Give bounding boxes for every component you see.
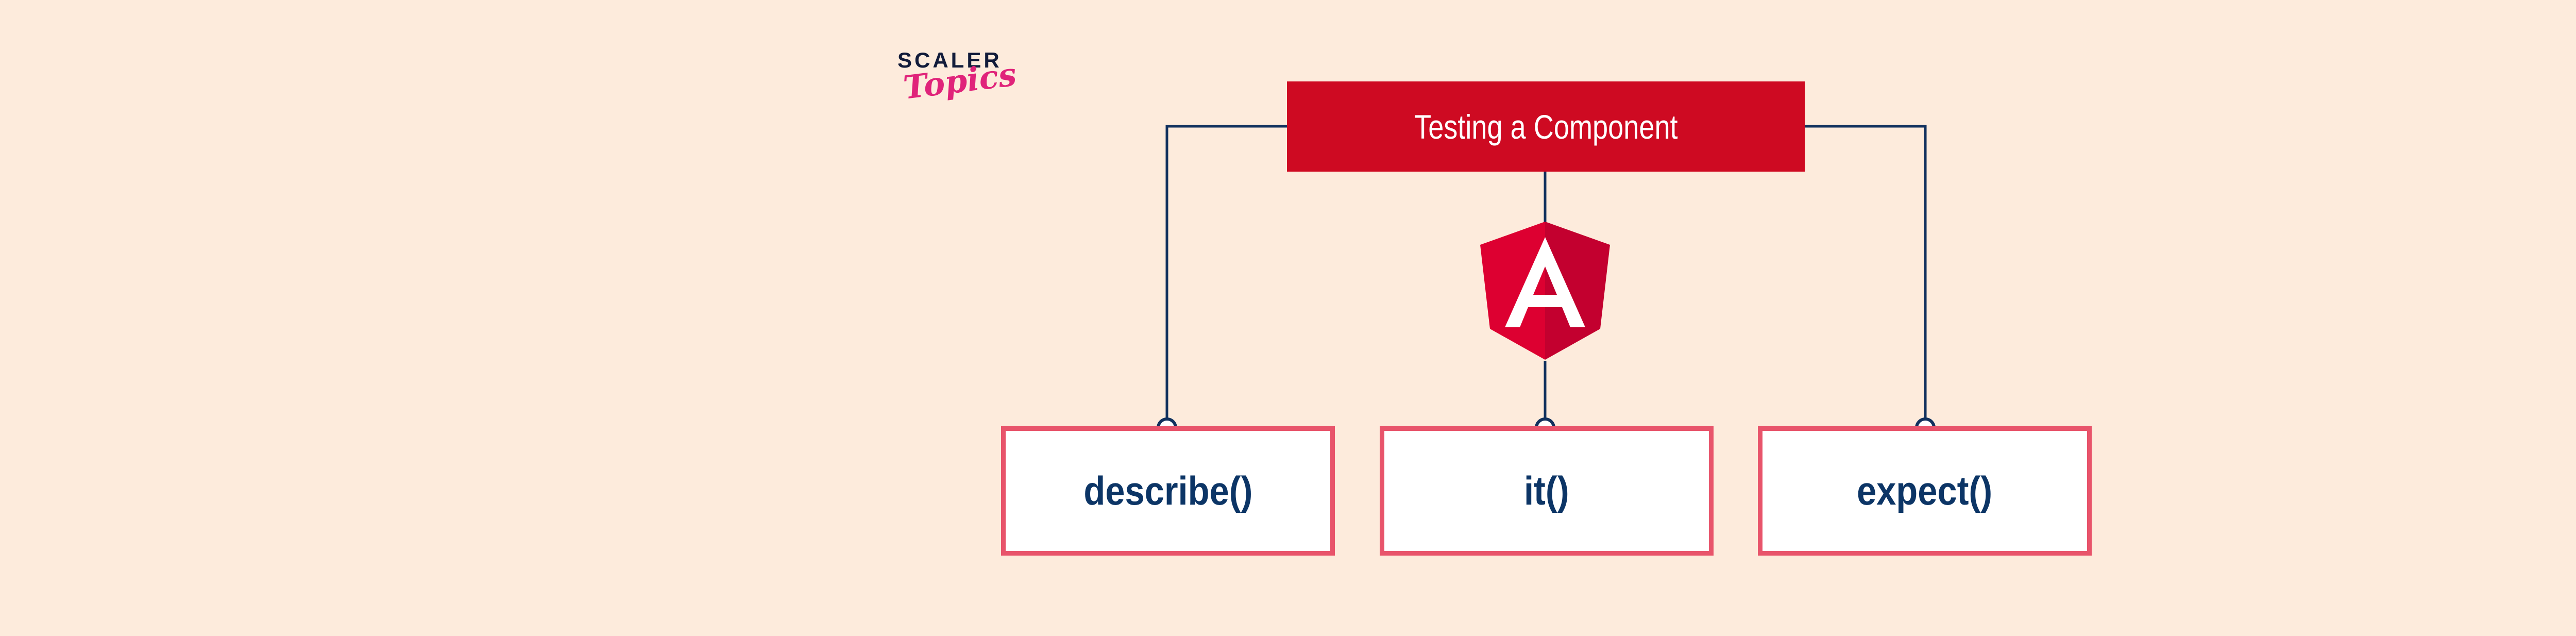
node-expect-label: expect() [1857,467,1992,514]
node-testing-a-component: Testing a Component [1287,81,1805,172]
node-it: it() [1380,426,1714,556]
node-expect: expect() [1758,426,2092,556]
node-describe-label: describe() [1083,467,1252,514]
diagram-canvas: SCALER Topics Testing a Component descri… [0,0,2576,636]
angular-logo-icon [1480,222,1610,360]
connector-right [1805,126,1925,428]
connector-left [1167,126,1287,428]
node-describe: describe() [1001,426,1335,556]
angular-shield-right [1545,222,1610,360]
angular-shield-left [1480,222,1545,360]
node-title-label: Testing a Component [1414,107,1677,146]
node-it-label: it() [1524,467,1569,514]
